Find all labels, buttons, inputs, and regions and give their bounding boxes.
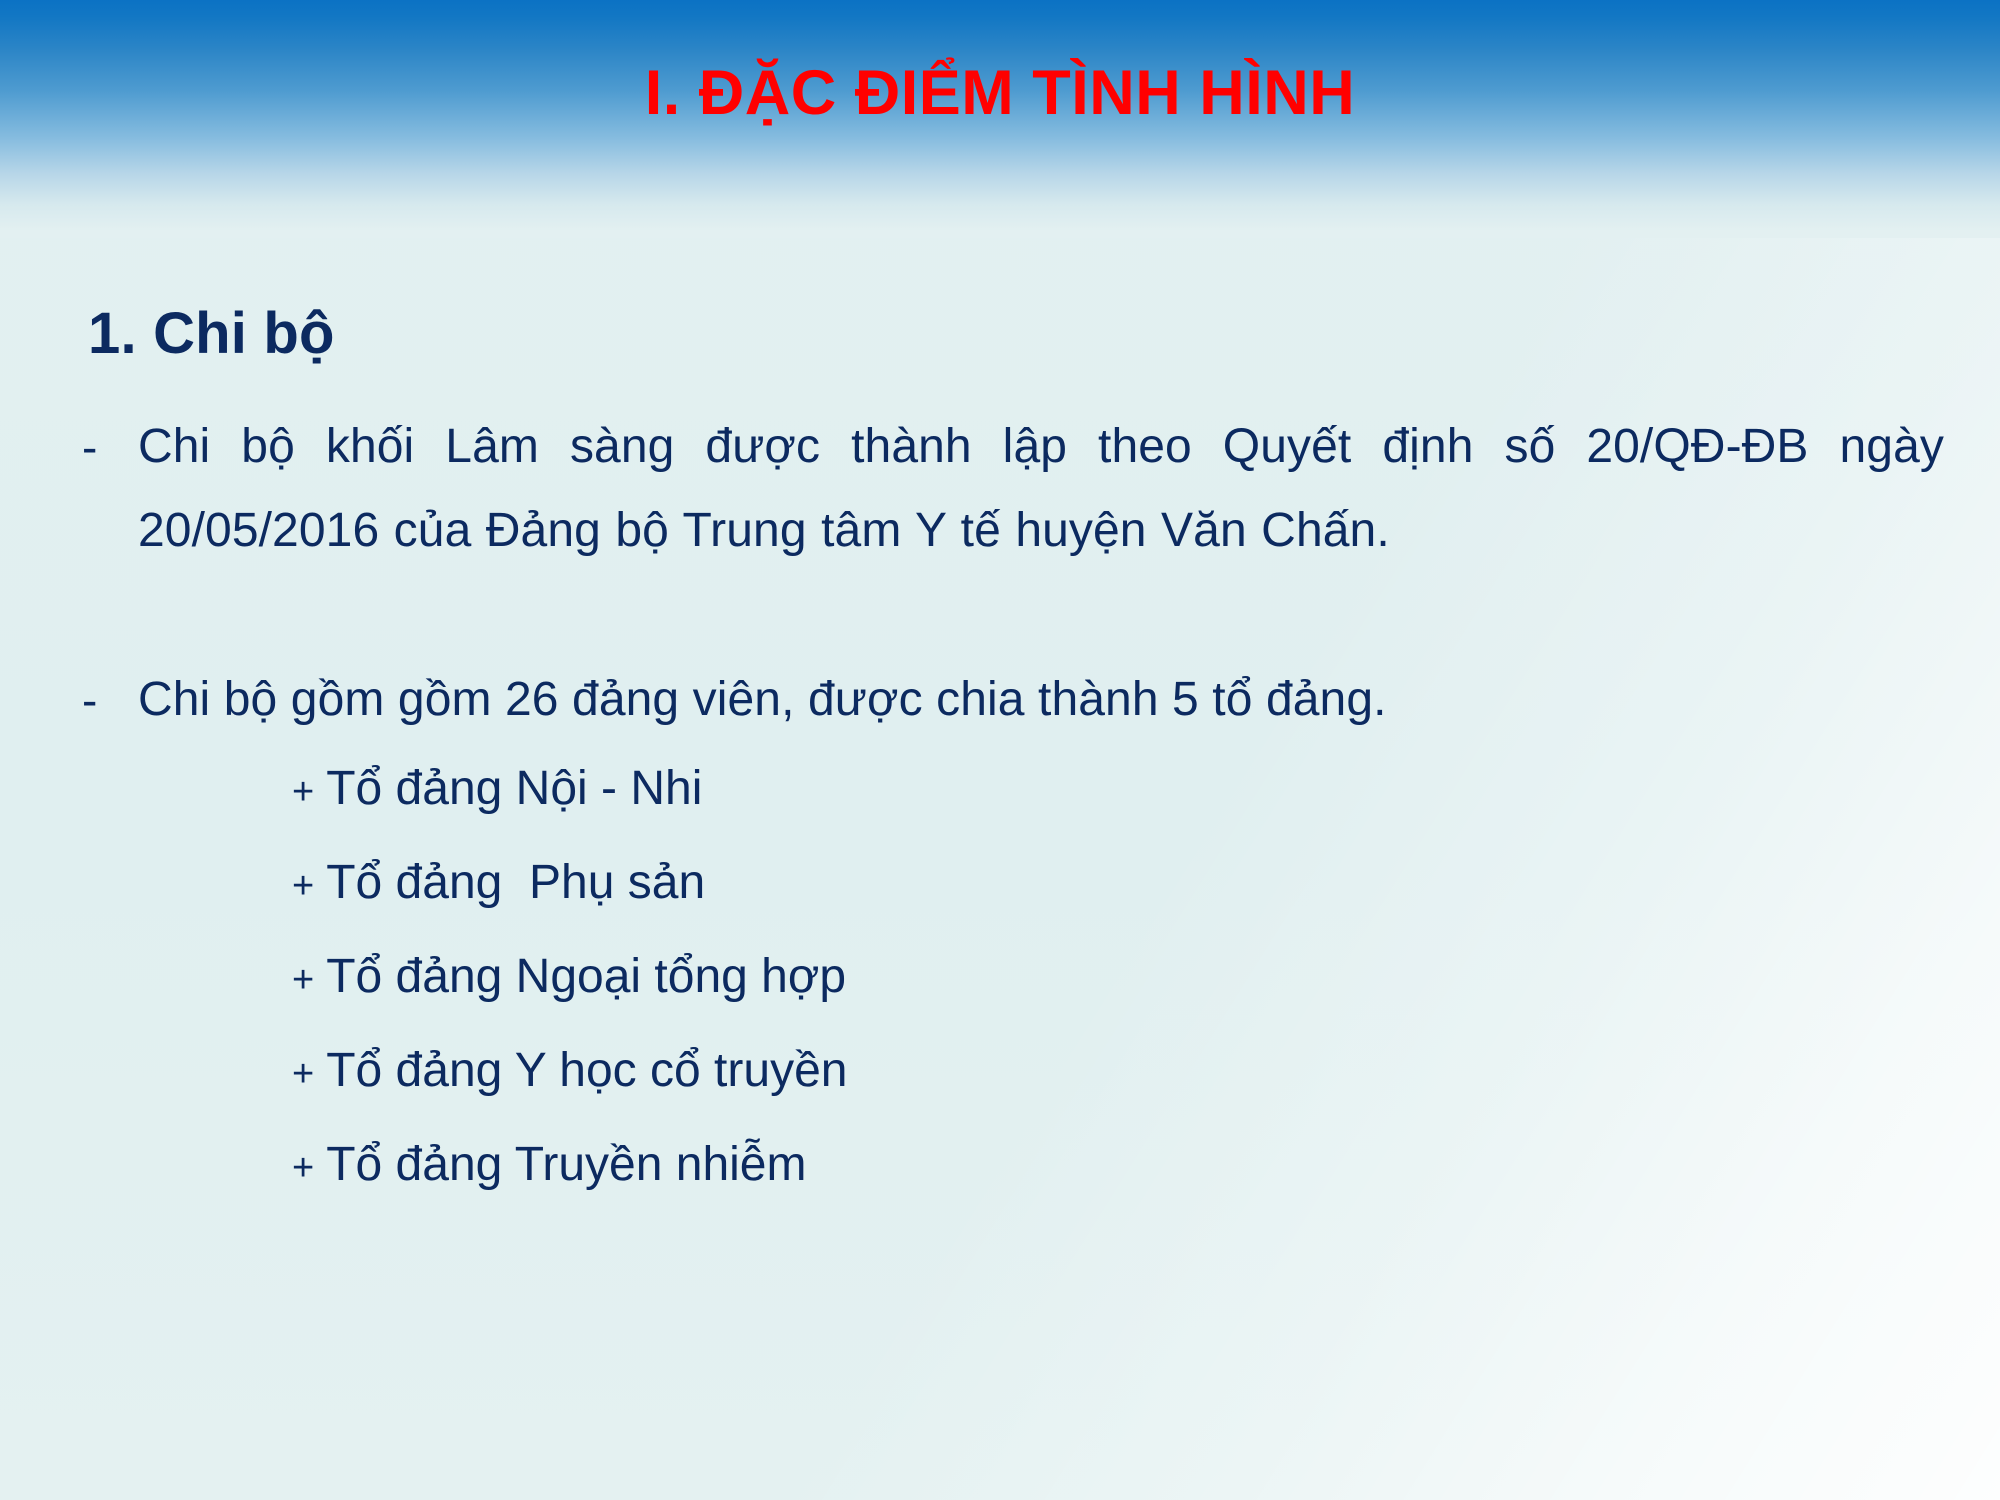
presentation-slide: I. ĐẶC ĐIỂM TÌNH HÌNH 1. Chi bộ - Chi bộ… xyxy=(0,0,2000,1500)
list-item: + Tổ đảng Nội - Nhi xyxy=(292,765,847,859)
plus-marker: + xyxy=(292,773,314,811)
plus-marker: + xyxy=(292,1055,314,1093)
plus-marker: + xyxy=(292,867,314,905)
list-item: + Tổ đảng Ngoại tổng hợp xyxy=(292,953,847,1047)
list-item: + Tổ đảng Y học cổ truyền xyxy=(292,1047,847,1141)
list-item: + Tổ đảng Truyền nhiễm xyxy=(292,1141,847,1235)
plus-marker: + xyxy=(292,1149,314,1187)
list-item-label: Tổ đảng Nội - Nhi xyxy=(326,765,702,813)
plus-marker: + xyxy=(292,961,314,999)
bullet-text: Chi bộ gồm gồm 26 đảng viên, được chia t… xyxy=(138,658,1387,742)
list-item-label: Tổ đảng Truyền nhiễm xyxy=(326,1141,806,1189)
slide-header-band: I. ĐẶC ĐIỂM TÌNH HÌNH xyxy=(0,0,2000,238)
list-item-label: Tổ đảng Y học cổ truyền xyxy=(326,1047,847,1095)
slide-content: 1. Chi bộ - Chi bộ khối Lâm sàng được th… xyxy=(0,238,2000,1500)
bullet-text: Chi bộ khối Lâm sàng được thành lập theo… xyxy=(138,405,1944,573)
bullet-item: - Chi bộ gồm gồm 26 đảng viên, được chia… xyxy=(76,658,1956,742)
bullet-item: - Chi bộ khối Lâm sàng được thành lập th… xyxy=(76,405,1956,573)
page-title: I. ĐẶC ĐIỂM TÌNH HÌNH xyxy=(0,0,2000,185)
bullet-dash-marker: - xyxy=(76,405,138,489)
list-item-label: Tổ đảng Phụ sản xyxy=(326,859,705,907)
list-item: + Tổ đảng Phụ sản xyxy=(292,859,847,953)
list-item-label: Tổ đảng Ngoại tổng hợp xyxy=(326,953,846,1001)
sub-bullet-list: + Tổ đảng Nội - Nhi + Tổ đảng Phụ sản + … xyxy=(292,765,847,1235)
section-heading: 1. Chi bộ xyxy=(88,300,335,367)
bullet-dash-marker: - xyxy=(76,658,138,742)
